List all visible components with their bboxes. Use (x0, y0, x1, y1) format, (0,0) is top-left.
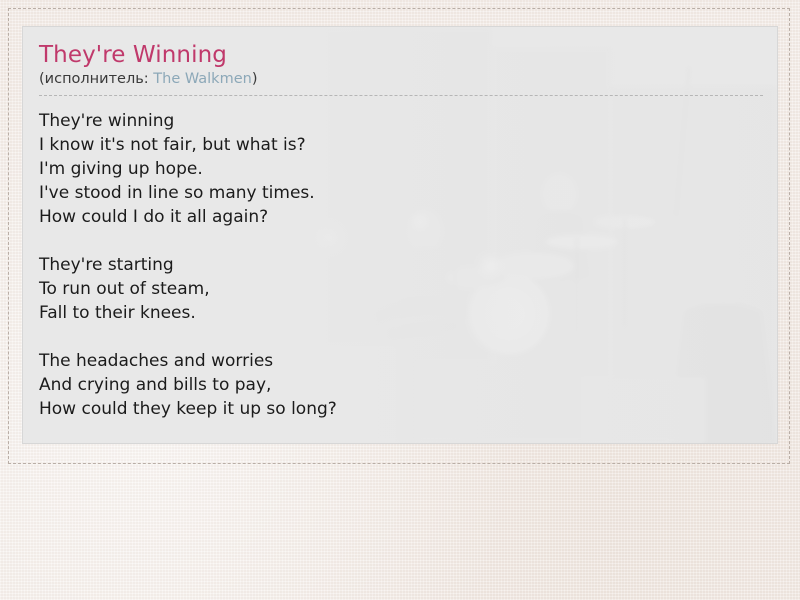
lyric-line: They're winning (39, 109, 761, 133)
lyrics-stanza: The headaches and worries And crying and… (39, 349, 761, 421)
artist-line: (исполнитель: The Walkmen) (39, 70, 763, 96)
artist-close-paren: ) (252, 71, 258, 87)
lyrics-content-panel: They're Winning (исполнитель: The Walkme… (22, 26, 778, 444)
lyric-line: They're starting (39, 253, 761, 277)
lyric-line: I've stood in line so many times. (39, 181, 761, 205)
lyric-line: The headaches and worries (39, 349, 761, 373)
lyric-line: And crying and bills to pay, (39, 373, 761, 397)
lyric-line: I'm giving up hope. (39, 157, 761, 181)
panel-content: They're Winning (исполнитель: The Walkme… (23, 27, 777, 421)
lyric-line: To run out of steam, (39, 277, 761, 301)
lyric-line: Fall to their knees. (39, 301, 761, 325)
lyrics-body: They're winning I know it's not fair, bu… (39, 109, 761, 421)
artist-label: исполнитель: (45, 71, 154, 87)
lyrics-stanza: They're starting To run out of steam, Fa… (39, 253, 761, 325)
lyric-line: How could I do it all again? (39, 205, 761, 229)
lyric-line: How could they keep it up so long? (39, 397, 761, 421)
artist-link[interactable]: The Walkmen (153, 71, 252, 87)
lyric-line: I know it's not fair, but what is? (39, 133, 761, 157)
lyrics-stanza: They're winning I know it's not fair, bu… (39, 109, 761, 229)
page-title: They're Winning (39, 41, 761, 69)
